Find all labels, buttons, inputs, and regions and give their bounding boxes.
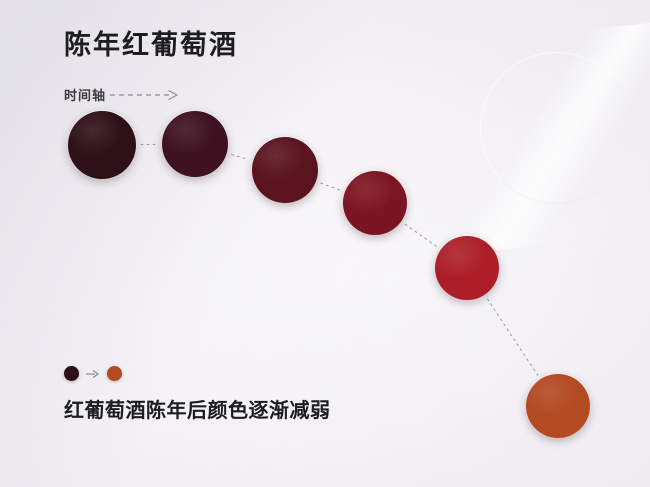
- legend-swatch-aged-wine: [107, 366, 122, 381]
- wine-stage-dot-1: [68, 111, 136, 179]
- wine-aging-infographic: 陈年红葡萄酒 时间轴 红葡萄酒陈年后颜色逐渐减弱: [0, 0, 650, 487]
- wine-stage-dot-6: [526, 374, 590, 438]
- wine-stage-dot-4: [343, 171, 407, 235]
- wine-stage-dot-3: [252, 137, 318, 203]
- arrow-right-icon: [86, 368, 100, 380]
- wine-stage-dot-5: [435, 236, 499, 300]
- wine-stage-dot-2: [162, 111, 228, 177]
- legend-swatch-young-wine: [64, 366, 79, 381]
- legend: [64, 366, 122, 381]
- caption-text: 红葡萄酒陈年后颜色逐渐减弱: [64, 394, 331, 423]
